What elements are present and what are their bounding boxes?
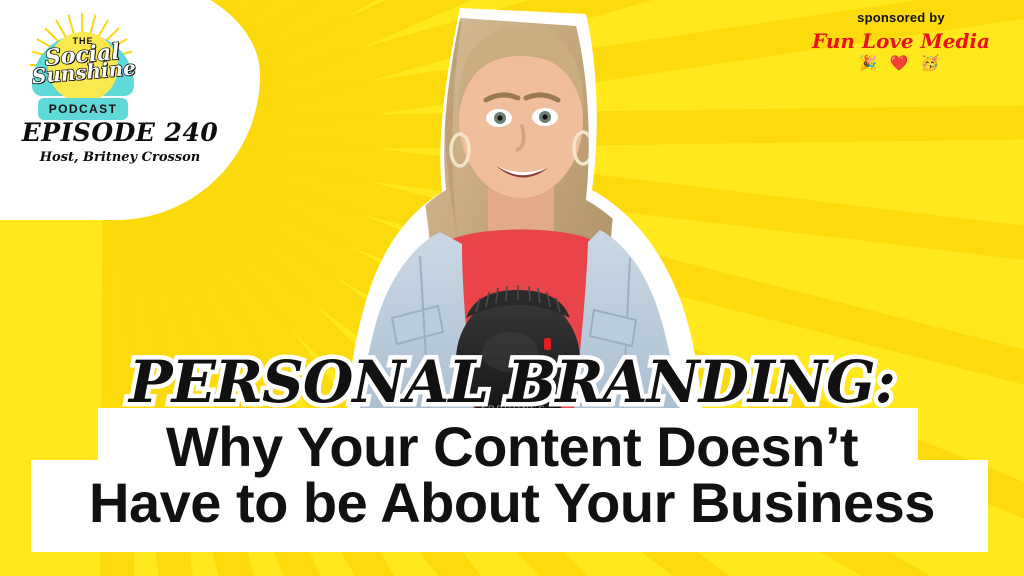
sponsor-emoji-row: 🎉 ❤️ 🥳 (806, 54, 996, 72)
logo-podcast-label: PODCAST (49, 102, 117, 116)
episode-number: EPISODE 240 (20, 118, 220, 147)
title-line-1: PERSONAL BRANDING: (0, 348, 1024, 416)
episode-info: EPISODE 240 Host, Britney Crosson (20, 118, 220, 165)
episode-host: Host, Britney Crosson (20, 150, 220, 165)
podcast-episode-cover: EARPHONES THE Social Sunshine PODCAST EP… (0, 0, 1024, 576)
sponsor-block: sponsored by Fun Love Media 🎉 ❤️ 🥳 (806, 10, 996, 72)
logo-podcast-pill: PODCAST (38, 98, 128, 120)
sponsor-name: Fun Love Media (806, 29, 996, 53)
podcast-logo: THE Social Sunshine PODCAST (18, 12, 148, 120)
sponsor-label: sponsored by (806, 10, 996, 25)
title-line-3: Have to be About Your Business (0, 470, 1024, 535)
